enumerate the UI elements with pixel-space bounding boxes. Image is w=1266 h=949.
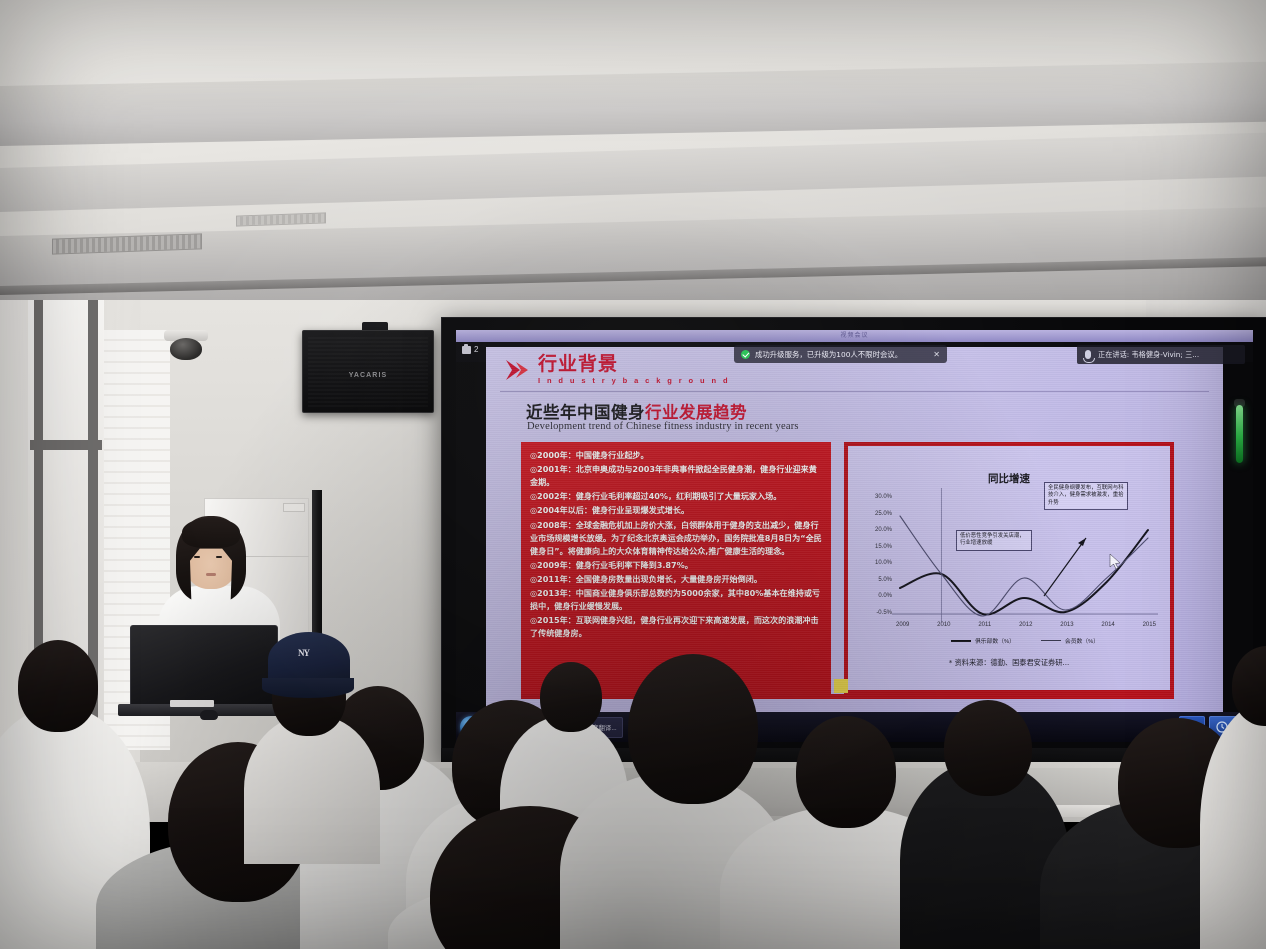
timeline-bullet: ◎2008年：全球金融危机加上房价大涨，白领群体用于健身的支出减少，健身行业市场… bbox=[530, 519, 822, 558]
chart-source-note: * 资料来源：德勤、国泰君安证券研... bbox=[848, 658, 1170, 668]
cap-logo-ny: NY bbox=[298, 648, 309, 658]
people-icon bbox=[462, 346, 471, 354]
ceiling bbox=[0, 0, 1266, 330]
timeline-bullet: ◎2000年：中国健身行业起步。 bbox=[530, 449, 822, 462]
x-tick: 2009 bbox=[896, 622, 909, 628]
audience-head bbox=[540, 662, 602, 732]
participant-count-value: 2 bbox=[474, 345, 478, 354]
speaker-brand-label: YACARIS bbox=[303, 372, 433, 379]
microphone-icon bbox=[1085, 350, 1091, 359]
laptop-lid bbox=[130, 625, 278, 707]
success-check-icon bbox=[741, 350, 750, 359]
timeline-bullet: ◎2002年：健身行业毛利率超过40%，红利期吸引了大量玩家入场。 bbox=[530, 490, 822, 503]
x-tick: 2014 bbox=[1101, 622, 1114, 628]
display-status-led bbox=[1236, 405, 1243, 463]
slide-accent-square bbox=[834, 679, 848, 693]
x-tick: 2013 bbox=[1060, 622, 1073, 628]
slide-bottom-strip bbox=[521, 694, 1174, 699]
chevron-brand-icon bbox=[504, 359, 534, 381]
x-tick: 2015 bbox=[1143, 622, 1156, 628]
x-tick: 2011 bbox=[978, 622, 991, 628]
legend-item-clubs: 俱乐部数（%） bbox=[951, 636, 1015, 645]
upgrade-toast[interactable]: 成功升级服务，已升级为100人不限时会议。 ✕ bbox=[734, 345, 947, 363]
chart-x-axis: 2009 2010 2011 2012 2013 2014 2015 bbox=[896, 622, 1156, 628]
slide-title-plain: 近些年中国健身 bbox=[526, 403, 645, 422]
presentation-slide[interactable]: 行业背景 I n d u s t r y b a c k g r o u n d… bbox=[486, 347, 1223, 712]
baseball-cap-brim bbox=[262, 678, 354, 698]
slide-brand: 行业背景 I n d u s t r y b a c k g r o u n d bbox=[538, 355, 730, 385]
slide-header-rule bbox=[500, 391, 1209, 392]
slide-subtitle: Development trend of Chinese fitness ind… bbox=[527, 421, 799, 432]
chart-panel: 同比增速 30.0% 25.0% 20.0% 15.0% 10.0% 5.0% … bbox=[844, 442, 1174, 694]
legend-swatch bbox=[951, 640, 971, 642]
presenter-mouth bbox=[206, 573, 216, 576]
toast-message: 成功升级服务，已升级为100人不限时会议。 bbox=[755, 349, 902, 360]
os-top-strip: 视频会议 bbox=[456, 330, 1253, 342]
timeline-bullet: ◎2011年：全国健身房数量出现负增长，大量健身房开始倒闭。 bbox=[530, 573, 822, 586]
chart-annotation-fitness-outline: 全民健身纲要发布，互联网与科技介入，健身需求被激发，重拾升势 bbox=[1044, 482, 1128, 510]
x-tick: 2012 bbox=[1019, 622, 1032, 628]
timeline-bullet: ◎2004年以后：健身行业呈现爆发式增长。 bbox=[530, 504, 822, 517]
legend-item-members: 会员数（%） bbox=[1041, 636, 1099, 645]
timeline-bullet: ◎2009年：健身行业毛利率下降到3.87%。 bbox=[530, 559, 822, 572]
ceiling-band-2 bbox=[0, 133, 1266, 212]
ceiling-vent-2 bbox=[236, 212, 326, 226]
window-transom bbox=[30, 440, 102, 450]
speaking-text: 正在讲话: 韦格健身-Vivin; 三... bbox=[1098, 350, 1199, 360]
computer-mouse bbox=[200, 710, 218, 720]
timeline-bullet: ◎2015年：互联网健身兴起，健身行业再次迎下来高速发展，而这次的浪潮冲击了传统… bbox=[530, 614, 822, 640]
audience-head bbox=[796, 716, 896, 828]
timeline-bullet: ◎2001年：北京申奥成功与2003年非典事件掀起全民健身潮，健身行业迎来黄金期… bbox=[530, 463, 822, 489]
slide-brand-en: I n d u s t r y b a c k g r o u n d bbox=[538, 376, 730, 385]
wall-speaker: YACARIS bbox=[302, 330, 434, 413]
timeline-bullet: ◎2013年：中国商业健身俱乐部总数约为5000余家，其中80%基本在维持或亏损… bbox=[530, 587, 822, 613]
x-tick: 2010 bbox=[937, 622, 950, 628]
chart-legend: 俱乐部数（%） 会员数（%） bbox=[900, 636, 1150, 645]
chart-inner: 同比增速 30.0% 25.0% 20.0% 15.0% 10.0% 5.0% … bbox=[848, 446, 1170, 690]
dome-camera-icon bbox=[170, 338, 202, 360]
slide-title: 近些年中国健身行业发展趋势 bbox=[526, 399, 747, 423]
slide-brand-cn: 行业背景 bbox=[538, 355, 730, 374]
legend-label: 会员数（%） bbox=[1065, 636, 1099, 645]
speaking-indicator[interactable]: 正在讲话: 韦格健身-Vivin; 三... bbox=[1077, 345, 1245, 364]
audience-head bbox=[628, 654, 758, 804]
audience-head bbox=[944, 700, 1032, 796]
participant-count-badge[interactable]: 2 bbox=[462, 345, 478, 354]
legend-label: 俱乐部数（%） bbox=[975, 636, 1015, 645]
presenter-fringe bbox=[182, 518, 240, 548]
chart-annotation-low-price: 低价恶性竞争引发关店潮，行业增速放缓 bbox=[956, 530, 1032, 551]
laptop-label bbox=[170, 700, 214, 707]
cabinet-label bbox=[283, 503, 305, 512]
audience-body bbox=[244, 714, 380, 864]
ceiling-band-1 bbox=[0, 62, 1266, 146]
close-icon[interactable]: ✕ bbox=[933, 350, 940, 359]
legend-swatch bbox=[1041, 640, 1061, 641]
slide-title-highlight: 行业发展趋势 bbox=[645, 403, 747, 422]
audience-head bbox=[18, 640, 98, 732]
conference-room-scene: YACARIS 视频会议 2 成功升级服务，已升级为100人不限时会议。 ✕ 正… bbox=[0, 0, 1266, 949]
